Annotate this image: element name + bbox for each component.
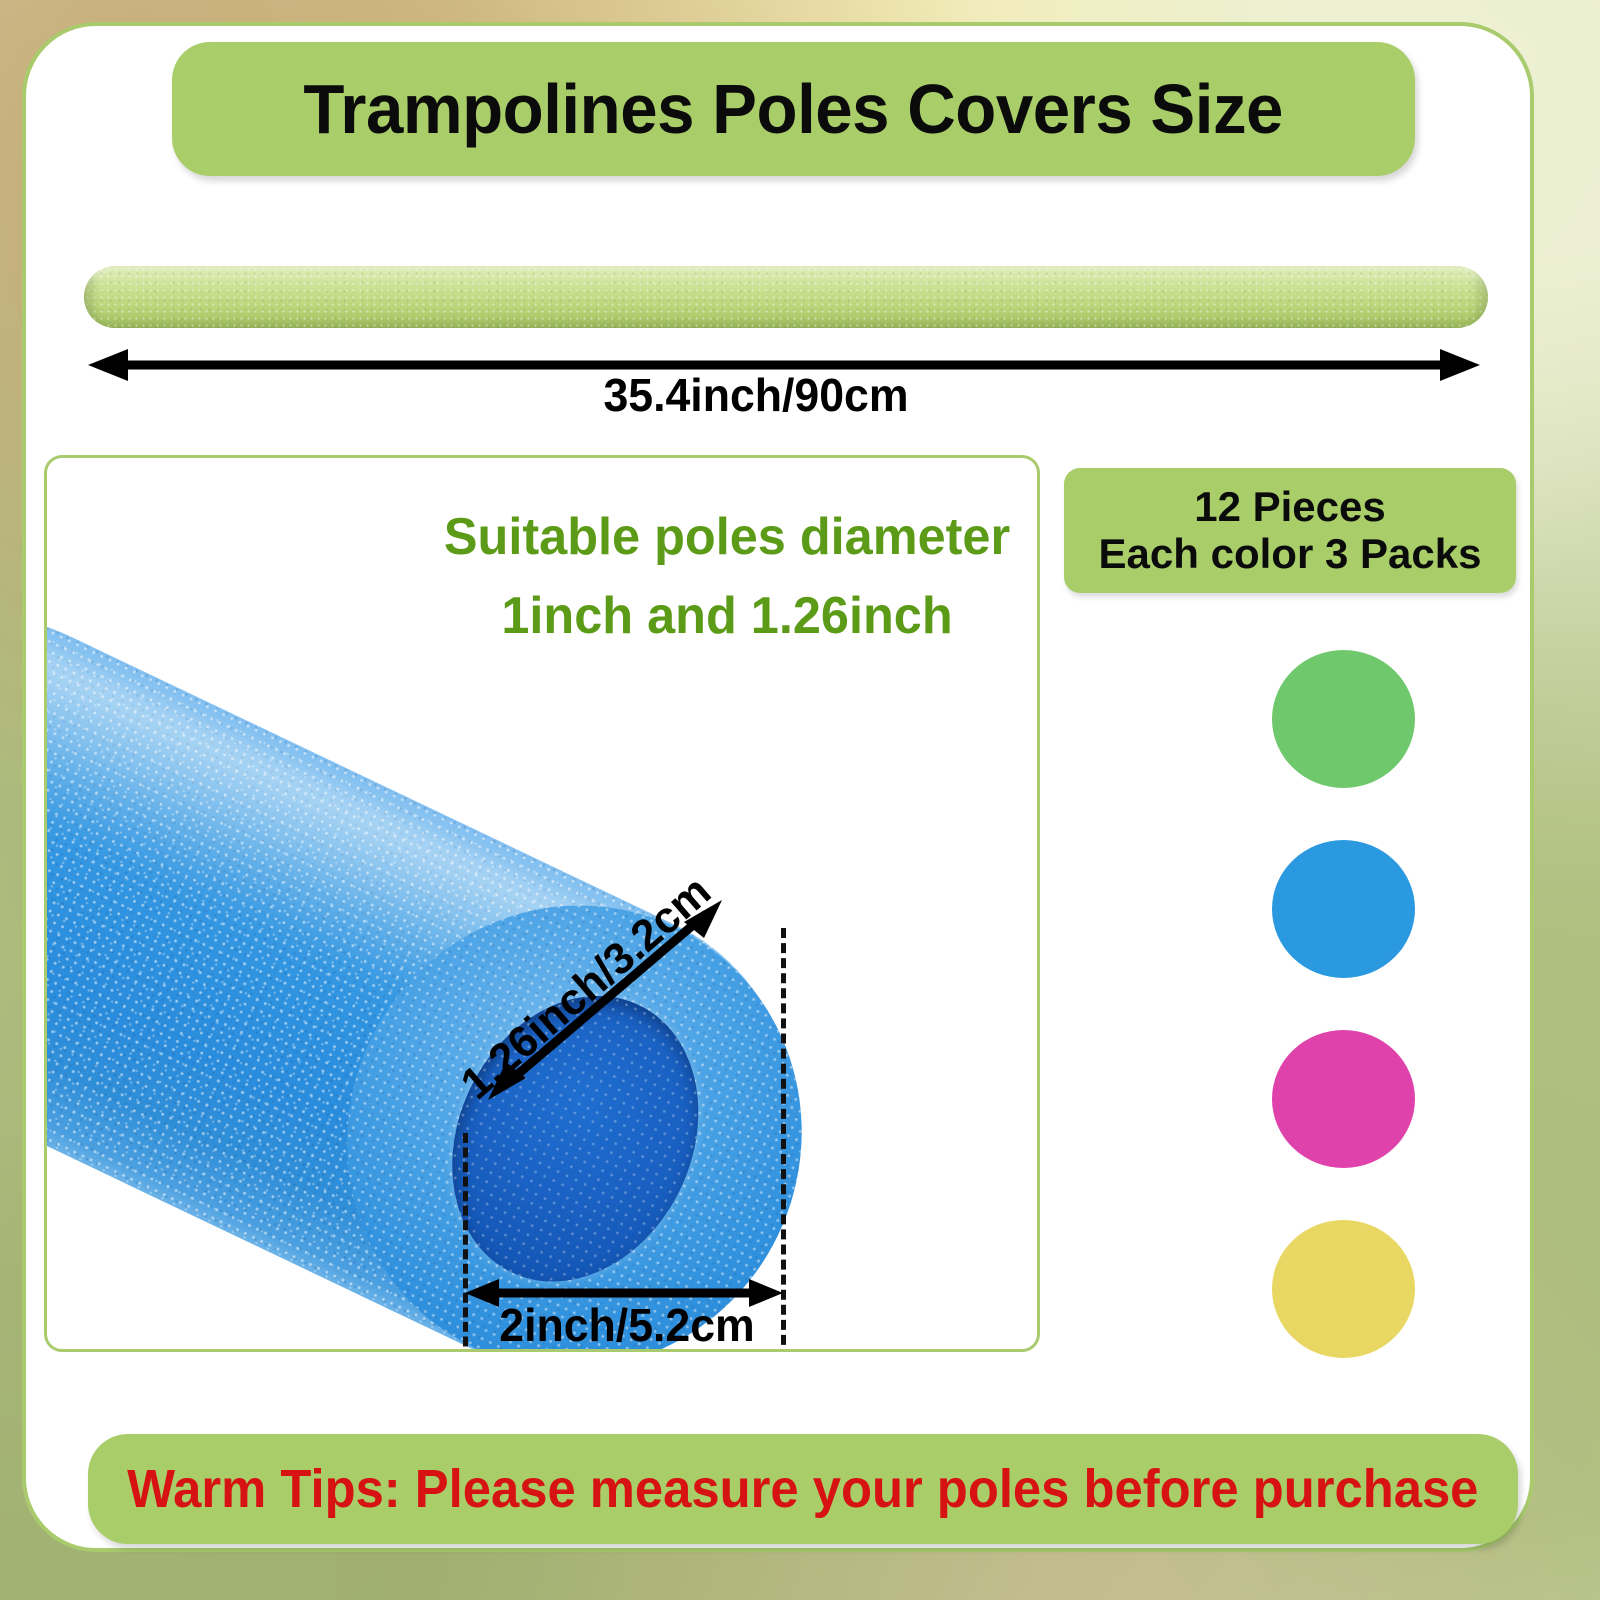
- noodle-left-end: [84, 266, 100, 328]
- foam-texture: [84, 266, 1488, 328]
- noodle-right-end: [1470, 266, 1488, 328]
- page-title: Trampolines Poles Covers Size: [304, 69, 1284, 149]
- warning-banner: Warm Tips: Please measure your poles bef…: [88, 1434, 1518, 1544]
- hole-diameter-arrow: [470, 880, 740, 1120]
- quantity-line-2: Each color 3 Packs: [1099, 531, 1482, 577]
- color-swatch-green: [1272, 650, 1415, 788]
- color-swatch-list: [1272, 650, 1432, 1340]
- length-label: 35.4inch/90cm: [23, 368, 1490, 422]
- suitable-diameter-copy: Suitable poles diameter 1inch and 1.26in…: [436, 498, 1018, 656]
- infographic-stage: Trampolines Poles Covers Size 35.4inch/9…: [0, 0, 1600, 1600]
- copy-line-1: Suitable poles diameter: [436, 498, 1018, 577]
- title-banner: Trampolines Poles Covers Size: [172, 42, 1415, 176]
- color-swatch-yellow: [1272, 1220, 1415, 1358]
- copy-line-2: 1inch and 1.26inch: [436, 577, 1018, 656]
- color-swatch-blue: [1272, 840, 1415, 978]
- quantity-line-1: 12 Pieces: [1194, 484, 1386, 530]
- warning-text: Warm Tips: Please measure your poles bef…: [127, 1458, 1478, 1520]
- green-foam-noodle-image: [84, 266, 1488, 328]
- blue-foam-tube-image: [44, 542, 874, 1352]
- quantity-badge: 12 Pieces Each color 3 Packs: [1064, 468, 1516, 593]
- outer-width-label: 2inch/5.2cm: [452, 1298, 801, 1352]
- color-swatch-pink: [1272, 1030, 1415, 1168]
